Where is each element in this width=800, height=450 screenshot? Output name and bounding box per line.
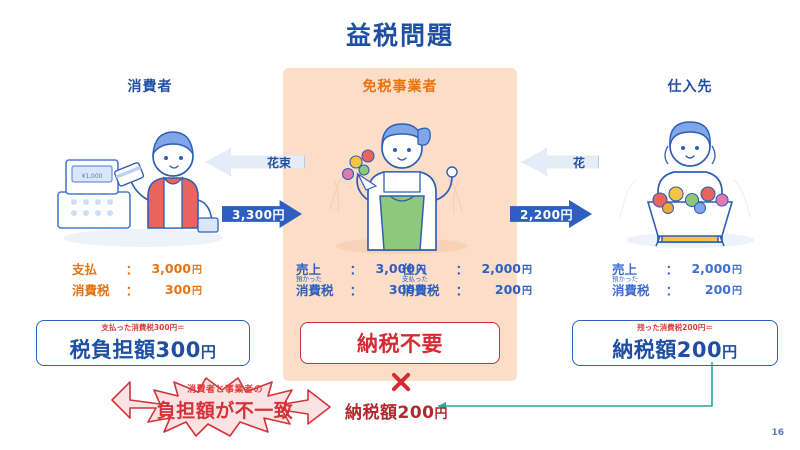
supplier-illustration: [600, 100, 780, 250]
figure-colon: ：: [664, 264, 680, 277]
figure-label: 預かった消費税: [296, 285, 348, 298]
figure-value: 2,000円: [680, 263, 742, 276]
exempt-result-box: 納税不要: [300, 322, 500, 364]
supplier-heading: 仕入先: [600, 76, 780, 96]
supplier-result-caption: 残った消費税200円＝: [637, 322, 713, 333]
figure-label: 預かった消費税: [612, 285, 664, 298]
figure-colon: ：: [454, 264, 470, 277]
figure-colon: ：: [124, 264, 140, 277]
mismatch-burst-shape: [100, 374, 350, 440]
svg-text:¥1,000: ¥1,000: [82, 173, 103, 180]
figure-colon: ：: [348, 285, 364, 298]
goods-arrow-flower-label: 花: [573, 154, 599, 171]
page-number: 16: [771, 428, 784, 438]
figure-colon: ：: [348, 264, 364, 277]
exempt-business-illustration: [312, 100, 492, 255]
figure-ruby: 支払った: [402, 276, 428, 283]
exempt-business-heading: 免税事業者: [283, 76, 517, 96]
consumer-heading: 消費者: [60, 76, 240, 96]
figure-ruby: 預かった: [612, 276, 638, 283]
supplier-to-exempt-connector: [420, 360, 720, 420]
figure-value: 200円: [470, 284, 532, 297]
consumer-figures: 支払 ： 3,000円 消費税 ： 300円: [72, 263, 202, 305]
figure-label: 消費税: [72, 285, 124, 298]
slide-root: 益税問題 免税事業者 消費者 仕入先 ¥1,000: [0, 0, 800, 450]
figure-value: 3,000円: [140, 263, 202, 276]
exempt-purchase-figures: 仕入 ： 2,000円 支払った消費税 ： 200円: [402, 263, 532, 305]
money-arrow-3300: 3,300円: [222, 200, 302, 228]
consumer-result-caption: 支払った消費税300円＝: [101, 322, 184, 333]
goods-arrow-bouquet-label: 花束: [267, 154, 305, 171]
figure-colon: ：: [664, 285, 680, 298]
exempt-unpaid-amount: 納税額200円: [345, 398, 448, 423]
figure-value: 200円: [680, 284, 742, 297]
figure-row: 預かった消費税 ： 200円: [612, 284, 742, 297]
goods-arrow-flower: 花: [521, 148, 599, 176]
figure-ruby: 預かった: [296, 276, 322, 283]
consumer-result-box: 支払った消費税300円＝ 税負担額300円: [36, 320, 250, 366]
figure-row: 消費税 ： 300円: [72, 284, 202, 297]
figure-colon: ：: [124, 285, 140, 298]
mismatch-x-icon: [389, 370, 413, 394]
money-arrow-2200: 2,200円: [510, 200, 592, 228]
page-title: 益税問題: [0, 16, 800, 52]
figure-value: 2,000円: [470, 263, 532, 276]
money-arrow-3300-label: 3,300円: [222, 206, 285, 223]
supplier-figures: 売上 ： 2,000円 預かった消費税 ： 200円: [612, 263, 742, 305]
figure-label: 支払: [72, 264, 124, 277]
goods-arrow-bouquet: 花束: [205, 148, 305, 176]
figure-colon: ：: [454, 285, 470, 298]
money-arrow-2200-label: 2,200円: [510, 206, 573, 223]
figure-label: 支払った消費税: [402, 285, 454, 298]
figure-value: 300円: [140, 284, 202, 297]
figure-row: 支払 ： 3,000円: [72, 263, 202, 276]
figure-row: 支払った消費税 ： 200円: [402, 284, 532, 297]
exempt-result-amount: 納税不要: [357, 328, 443, 358]
consumer-result-amount: 税負担額300円: [70, 334, 217, 364]
